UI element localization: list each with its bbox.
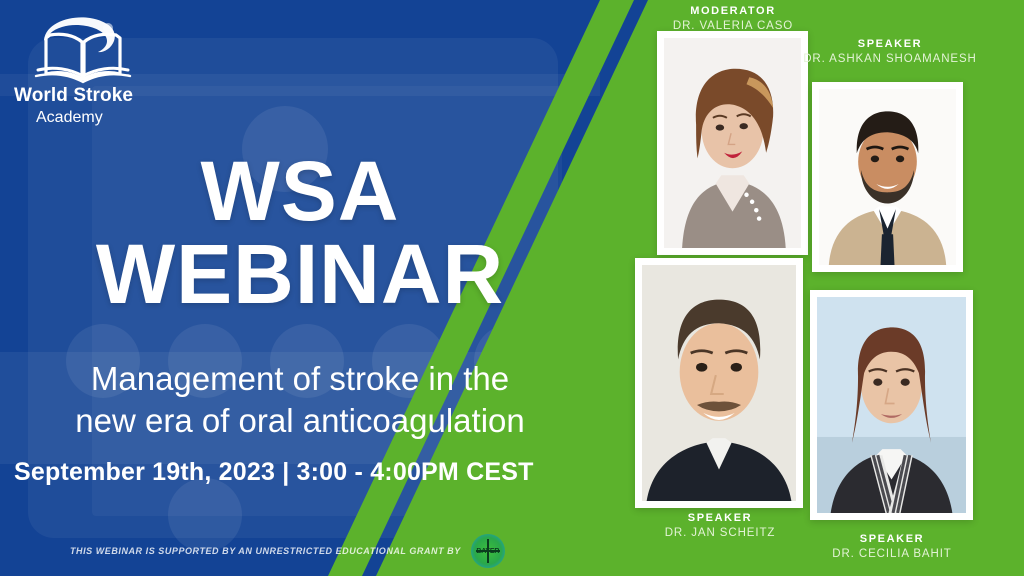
title-line-2: WEBINAR [0,232,600,316]
wsa-logo[interactable]: World Stroke Academy [10,14,158,132]
portrait-card-caso[interactable] [657,31,808,255]
portrait-label-scheitz: SPEAKER DR. JAN SCHEITZ [632,512,808,540]
person-name: DR. CECILIA BAHIT [802,547,982,561]
subtitle-line-2: new era of oral anticoagulation [14,400,586,442]
portrait-label-caso: MODERATOR DR. VALERIA CASO [648,5,818,33]
subtitle-line-1: Management of stroke in the [14,358,586,400]
person-name: DR. VALERIA CASO [648,19,818,33]
bayer-cross-logo-icon: BAYER [471,534,505,568]
portrait-label-bahit: SPEAKER DR. CECILIA BAHIT [802,533,982,561]
sponsor-footer: THIS WEBINAR IS SUPPORTED BY AN UNRESTRI… [70,534,505,568]
portrait-photo-cecilia-bahit [817,297,966,513]
logo-line-secondary: Academy [10,107,158,129]
logo-line-primary: World Stroke [10,86,158,107]
title-line-1: WSA [0,150,600,232]
portrait-label-shoamanesh: SPEAKER DR. ASHKAN SHOAMANESH [795,38,985,66]
bayer-logo-label: BAYER [476,548,499,555]
role-label: SPEAKER [632,512,808,526]
person-name: DR. ASHKAN SHOAMANESH [795,52,985,66]
portrait-card-shoamanesh[interactable] [812,82,963,272]
open-book-swoosh-icon [10,14,158,92]
hero-title: WSA WEBINAR [0,150,600,316]
portrait-card-scheitz[interactable] [635,258,803,508]
portrait-card-bahit[interactable] [810,290,973,520]
role-label: SPEAKER [795,38,985,52]
webinar-banner: World Stroke Academy WSA WEBINAR Managem… [0,0,1024,576]
portrait-photo-jan-scheitz [642,265,796,501]
wsa-logo-text: World Stroke Academy [10,86,158,128]
role-label: SPEAKER [802,533,982,547]
event-datetime: September 19th, 2023 | 3:00 - 4:00PM CES… [14,458,600,487]
portrait-photo-ashkan-shoamanesh [819,89,956,265]
hero-subtitle: Management of stroke in the new era of o… [0,358,600,442]
sponsor-text: THIS WEBINAR IS SUPPORTED BY AN UNRESTRI… [70,546,461,556]
role-label: MODERATOR [648,5,818,19]
person-name: DR. JAN SCHEITZ [632,526,808,540]
portrait-photo-valeria-caso [664,38,801,248]
